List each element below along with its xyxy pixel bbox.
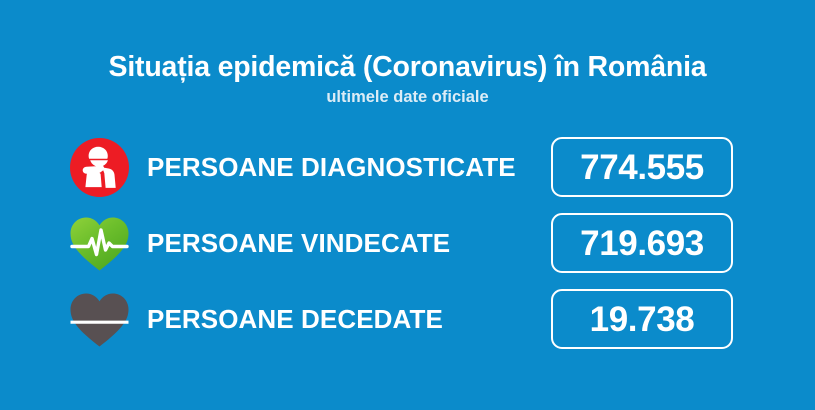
stat-label: PERSOANE DIAGNOSTICATE xyxy=(147,136,516,199)
stat-value-box: 19.738 xyxy=(551,289,733,349)
stat-value: 719.693 xyxy=(580,226,704,261)
header: Situația epidemică (Coronavirus) în Româ… xyxy=(0,50,815,107)
stat-row-diagnosed: PERSOANE DIAGNOSTICATE 774.555 xyxy=(0,136,815,199)
stat-label: PERSOANE VINDECATE xyxy=(147,212,450,275)
coronavirus-stats-infographic: Situația epidemică (Coronavirus) în Româ… xyxy=(0,0,815,410)
page-subtitle: ultimele date oficiale xyxy=(0,87,815,107)
heart-pulse-icon xyxy=(68,212,131,275)
stat-row-deceased: PERSOANE DECEDATE 19.738 xyxy=(0,288,815,351)
stat-row-recovered: PERSOANE VINDECATE 719.693 xyxy=(0,212,815,275)
heart-flatline-icon xyxy=(68,288,131,351)
stat-value-box: 719.693 xyxy=(551,213,733,273)
page-title: Situația epidemică (Coronavirus) în Româ… xyxy=(0,50,815,84)
stats-list: PERSOANE DIAGNOSTICATE 774.555 xyxy=(0,136,815,351)
stat-value-box: 774.555 xyxy=(551,137,733,197)
sick-person-circle-icon xyxy=(68,136,131,199)
stat-label: PERSOANE DECEDATE xyxy=(147,288,443,351)
stat-value: 774.555 xyxy=(580,150,704,185)
stat-value: 19.738 xyxy=(590,302,695,337)
